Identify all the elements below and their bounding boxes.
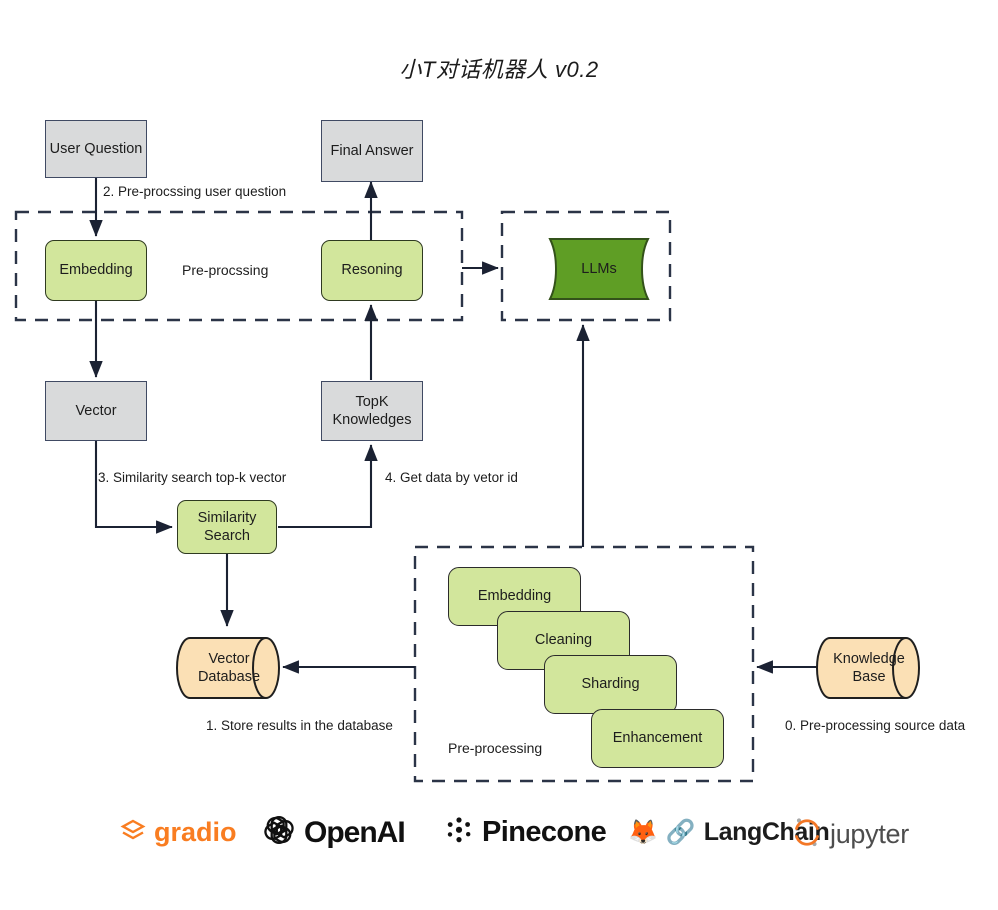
node-vector-database-label-line1: Vector	[208, 650, 249, 668]
parrot-icon: 🦊	[628, 821, 658, 845]
node-vector-database-label: Vector Database	[176, 637, 296, 699]
group-label-pre-procssing: Pre-procssing	[182, 262, 268, 278]
node-vector[interactable]: Vector	[45, 381, 147, 441]
node-knowledge-base-label-line1: Knowledge	[833, 650, 905, 668]
node-vector-database-label-line2: Database	[198, 668, 260, 686]
stack-item-embedding-label: Embedding	[478, 587, 551, 605]
node-knowledge-base-label: Knowledge Base	[816, 637, 936, 699]
openai-icon	[262, 813, 296, 852]
node-similarity-search-label-line1: Similarity	[198, 509, 257, 527]
node-vector-database[interactable]: Vector Database	[176, 637, 282, 699]
node-embedding[interactable]: Embedding	[45, 240, 147, 301]
logo-gradio: gradio	[120, 817, 237, 848]
node-topk-knowledges-label-line2: Knowledges	[333, 411, 412, 429]
jupyter-icon	[792, 816, 822, 853]
gradio-icon	[120, 817, 146, 848]
link-icon: 🔗	[666, 821, 696, 845]
diagram-canvas: 小T对话机器人 v0.2	[0, 0, 998, 910]
edge-label-step-0: 0. Pre-processing source data	[785, 718, 965, 733]
stack-item-enhancement-label: Enhancement	[613, 729, 702, 747]
logo-jupyter: jupyter	[792, 816, 909, 853]
logo-pinecone: Pinecone	[444, 815, 606, 850]
node-llms-label: LLMs	[540, 237, 658, 301]
pinecone-icon	[444, 815, 474, 850]
node-final-answer-label: Final Answer	[330, 142, 413, 160]
logo-strip: gradio OpenAI	[0, 800, 998, 875]
logo-openai-text: OpenAI	[304, 816, 405, 850]
node-similarity-search[interactable]: Similarity Search	[177, 500, 277, 554]
node-final-answer[interactable]: Final Answer	[321, 120, 423, 182]
logo-openai: OpenAI	[262, 813, 405, 852]
node-knowledge-base-label-line2: Base	[852, 668, 885, 686]
node-topk-knowledges[interactable]: TopK Knowledges	[321, 381, 423, 441]
stack-item-cleaning-label: Cleaning	[535, 631, 592, 649]
node-embedding-label: Embedding	[59, 261, 132, 279]
logo-pinecone-text: Pinecone	[482, 816, 606, 849]
edge-label-step-2: 2. Pre-procssing user question	[103, 184, 286, 199]
edge-similarity-search-to-topk	[278, 445, 371, 527]
node-resoning[interactable]: Resoning	[321, 240, 423, 301]
node-knowledge-base[interactable]: Knowledge Base	[816, 637, 922, 699]
edge-label-step-3: 3. Similarity search top-k vector	[98, 470, 286, 485]
node-user-question[interactable]: User Question	[45, 120, 147, 178]
stack-item-enhancement[interactable]: Enhancement	[591, 709, 724, 768]
stack-item-sharding[interactable]: Sharding	[544, 655, 677, 714]
node-user-question-label: User Question	[50, 140, 143, 158]
page-title: 小T对话机器人 v0.2	[0, 52, 998, 84]
logo-jupyter-text: jupyter	[830, 819, 909, 850]
stack-item-sharding-label: Sharding	[581, 675, 639, 693]
node-vector-label: Vector	[75, 402, 116, 420]
edge-label-step-4: 4. Get data by vetor id	[385, 470, 518, 485]
node-resoning-label: Resoning	[341, 261, 402, 279]
node-similarity-search-label-line2: Search	[204, 527, 250, 545]
connector-layer	[0, 0, 998, 910]
node-llms[interactable]: LLMs	[540, 237, 658, 301]
logo-gradio-text: gradio	[154, 817, 237, 848]
group-label-pre-processing: Pre-processing	[448, 740, 542, 756]
node-topk-knowledges-label-line1: TopK	[355, 393, 388, 411]
edge-label-step-1: 1. Store results in the database	[206, 718, 393, 733]
